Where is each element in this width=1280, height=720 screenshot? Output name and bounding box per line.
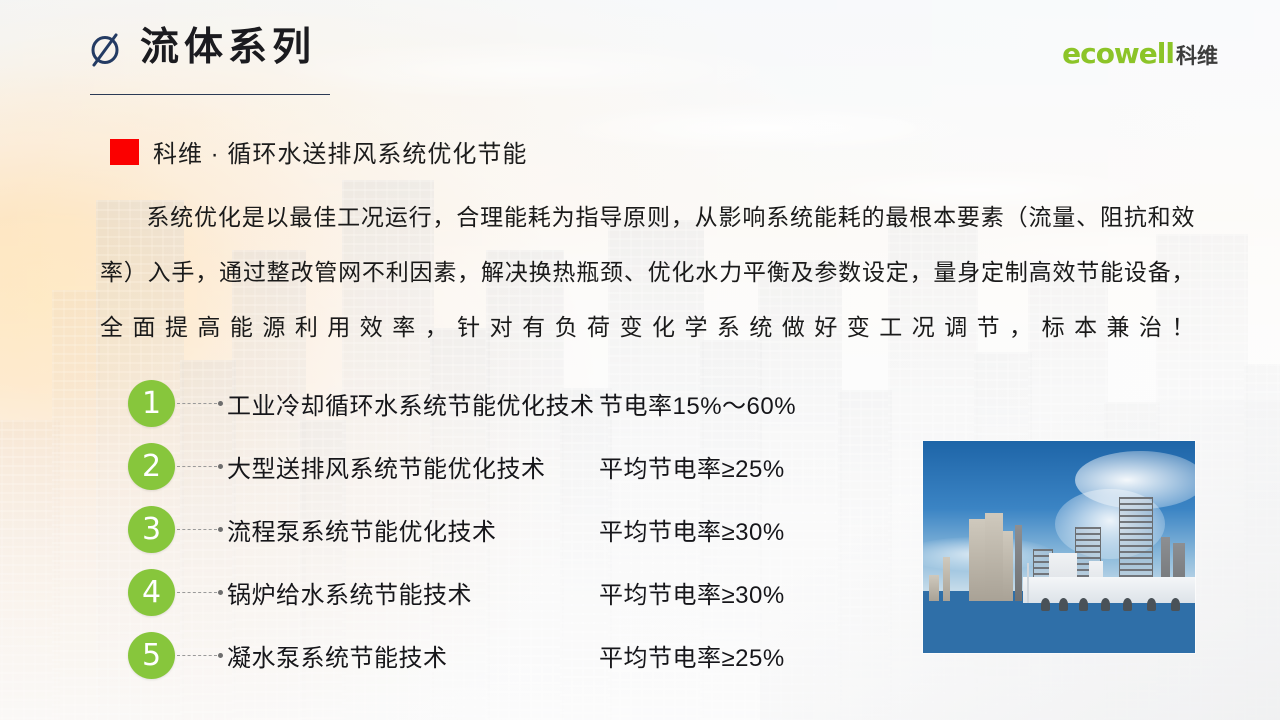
section-subtitle: 科维 · 循环水送排风系统优化节能	[110, 134, 527, 169]
list-number-badge: 5	[128, 632, 175, 679]
dashed-connector-icon	[177, 655, 227, 656]
diameter-phi-icon	[88, 29, 122, 67]
list-item-value: 平均节电率≥25%	[599, 449, 785, 484]
list-item-label: 大型送排风系统节能优化技术	[227, 449, 599, 484]
list-number-badge: 2	[128, 443, 175, 490]
brand-logo: ecowell 科维	[1062, 40, 1218, 68]
page-title: 流体系列	[140, 28, 316, 67]
list-item-value: 平均节电率≥30%	[599, 512, 785, 547]
list-item[interactable]: 2 大型送排风系统节能优化技术 平均节电率≥25%	[128, 435, 918, 498]
dashed-connector-icon	[177, 466, 227, 467]
title-row: 流体系列	[88, 28, 316, 67]
list-item[interactable]: 5 凝水泵系统节能技术 平均节电率≥25%	[128, 624, 918, 687]
list-item-value: 节电率15%～60%	[599, 386, 796, 421]
subtitle-text: 科维 · 循环水送排风系统优化节能	[153, 134, 527, 169]
logo-latin-text: ecowell	[1062, 40, 1174, 68]
body-paragraph: 系统优化是以最佳工况运行，合理能耗为指导原则，从影响系统能耗的最根本要素（流量、…	[100, 190, 1195, 355]
industrial-plant-photo	[923, 441, 1195, 653]
list-item-value: 平均节电率≥30%	[599, 575, 785, 610]
list-number-badge: 3	[128, 506, 175, 553]
dashed-connector-icon	[177, 403, 227, 404]
list-item[interactable]: 3 流程泵系统节能优化技术 平均节电率≥30%	[128, 498, 918, 561]
list-item[interactable]: 1 工业冷却循环水系统节能优化技术 节电率15%～60%	[128, 372, 918, 435]
numbered-technology-list: 1 工业冷却循环水系统节能优化技术 节电率15%～60% 2 大型送排风系统节能…	[128, 372, 918, 687]
title-underline	[90, 94, 330, 95]
list-item-value: 平均节电率≥25%	[599, 638, 785, 673]
logo-chinese-text: 科维	[1176, 46, 1218, 68]
list-item-label: 工业冷却循环水系统节能优化技术	[227, 386, 599, 421]
red-square-bullet-icon	[110, 139, 139, 165]
list-number-badge: 4	[128, 569, 175, 616]
list-item-label: 锅炉给水系统节能技术	[227, 575, 599, 610]
slide-header: 流体系列 ecowell 科维	[0, 0, 1280, 110]
list-item-label: 凝水泵系统节能技术	[227, 638, 599, 673]
list-number-badge: 1	[128, 380, 175, 427]
list-item[interactable]: 4 锅炉给水系统节能技术 平均节电率≥30%	[128, 561, 918, 624]
paragraph-text: 系统优化是以最佳工况运行，合理能耗为指导原则，从影响系统能耗的最根本要素（流量、…	[100, 204, 1195, 340]
list-item-label: 流程泵系统节能优化技术	[227, 512, 599, 547]
slide-canvas: 流体系列 ecowell 科维 科维 · 循环水送排风系统优化节能 系统优化是以…	[0, 0, 1280, 720]
dashed-connector-icon	[177, 529, 227, 530]
dashed-connector-icon	[177, 592, 227, 593]
